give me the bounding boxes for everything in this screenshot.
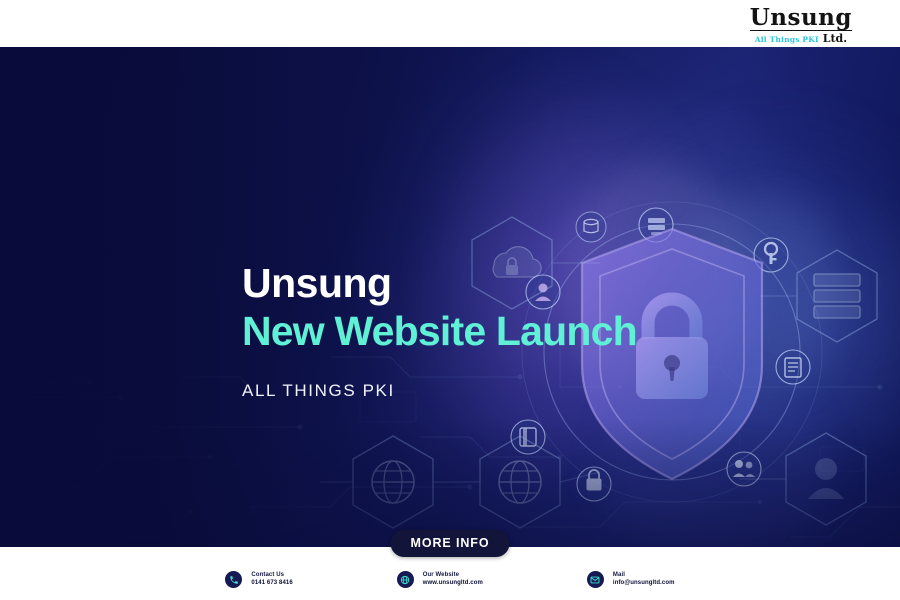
globe-icon <box>397 571 414 588</box>
contact-value: 0141 673 8416 <box>251 580 292 588</box>
more-info-button[interactable]: MORE INFO <box>391 530 510 557</box>
headline-line-2: New Website Launch <box>242 309 672 355</box>
logo-wordmark: Unsung <box>750 6 852 31</box>
sub-headline: ALL THINGS PKI <box>242 381 672 401</box>
poster-page: Unsung All Things PKI Ltd. <box>0 0 900 600</box>
contact-label: Mail <box>613 572 675 580</box>
hero-text-block: Unsung New Website Launch ALL THINGS PKI <box>242 262 672 401</box>
headline-line-1: Unsung <box>242 262 672 305</box>
brand-logo[interactable]: Unsung All Things PKI Ltd. <box>750 6 852 44</box>
top-bar: Unsung All Things PKI Ltd. <box>0 0 900 47</box>
contact-label: Our Website <box>423 572 483 580</box>
mail-icon <box>587 571 604 588</box>
phone-icon <box>225 571 242 588</box>
logo-tagline: All Things PKI <box>755 36 819 44</box>
contact-item-phone[interactable]: Contact Us 0141 673 8416 <box>225 571 292 588</box>
contact-text: Mail info@unsungltd.com <box>613 572 675 588</box>
contact-item-website[interactable]: Our Website www.unsungltd.com <box>397 571 483 588</box>
hero-banner: Unsung New Website Launch ALL THINGS PKI <box>0 47 900 547</box>
logo-suffix: Ltd. <box>823 33 847 44</box>
contact-text: Contact Us 0141 673 8416 <box>251 572 292 588</box>
logo-subline: All Things PKI Ltd. <box>750 33 852 44</box>
contact-value: info@unsungltd.com <box>613 580 675 588</box>
contact-item-mail[interactable]: Mail info@unsungltd.com <box>587 571 675 588</box>
contact-value: www.unsungltd.com <box>423 580 483 588</box>
contact-text: Our Website www.unsungltd.com <box>423 572 483 588</box>
contact-label: Contact Us <box>251 572 292 580</box>
